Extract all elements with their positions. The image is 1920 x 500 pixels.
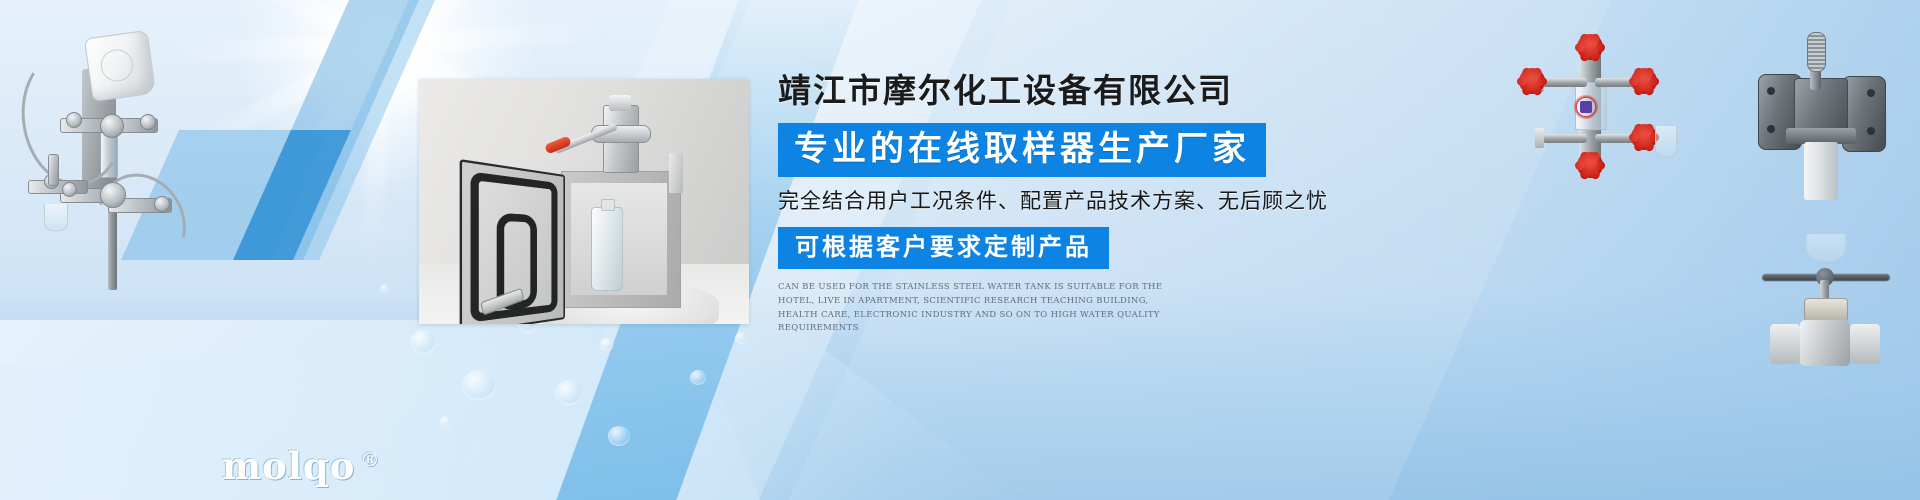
brand-logo: molqo® <box>222 448 380 485</box>
headline-badge: 专业的在线取样器生产厂家 <box>778 123 1266 177</box>
english-description: CAN BE USED FOR THE STAINLESS STEEL WATE… <box>778 281 1180 336</box>
inline-sampler-assembly-image <box>4 22 184 292</box>
promo-banner: 靖江市摩尔化工设备有限公司 专业的在线取样器生产厂家 完全结合用户工况条件、配置… <box>0 0 1920 500</box>
registered-trademark-icon: ® <box>360 449 380 471</box>
valve-manifold-image <box>1513 38 1693 173</box>
lever-valve-image <box>1758 30 1898 200</box>
copy-block: 靖江市摩尔化工设备有限公司 专业的在线取样器生产厂家 完全结合用户工况条件、配置… <box>778 74 1398 336</box>
gate-valve-image <box>1744 228 1914 398</box>
subheadline: 完全结合用户工况条件、配置产品技术方案、无后顾之忧 <box>778 191 1398 212</box>
brand-logo-text: molqo <box>222 444 355 488</box>
tagline-badge: 可根据客户要求定制产品 <box>778 227 1109 269</box>
company-name: 靖江市摩尔化工设备有限公司 <box>778 74 1398 107</box>
sampling-cabinet-photo <box>419 79 749 324</box>
